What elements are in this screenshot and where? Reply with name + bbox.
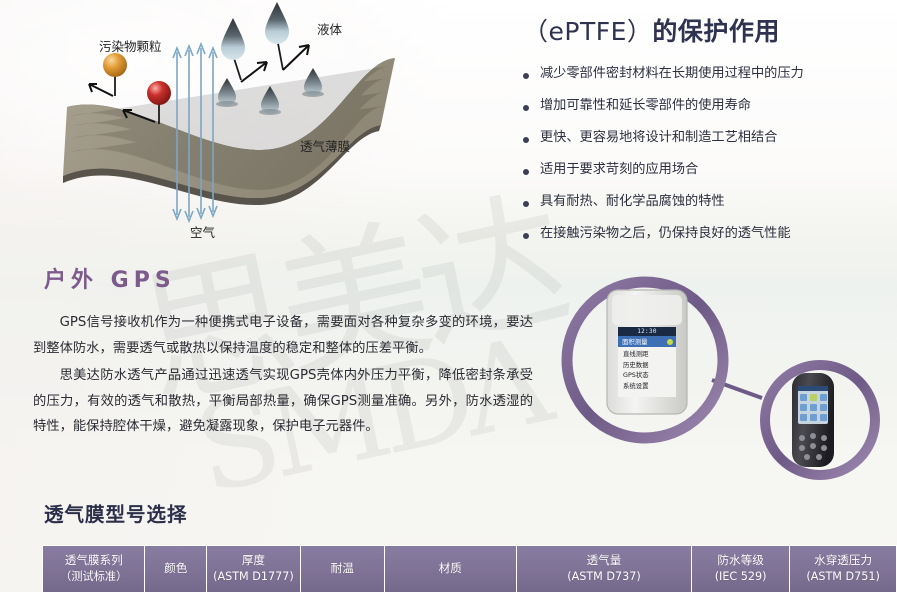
column-header-waterproof-rating: 防水等级 (IEC 529) [692,546,790,592]
screen-menu-item[interactable]: 历史数据 [623,360,676,371]
gps-paragraph: 思美达防水透气产品通过迅速透气实现GPS壳体内外压力平衡，降低密封条承受的压力，… [33,363,533,440]
benefit-item: 更快、更容易地将设计和制造工艺相结合 [523,130,897,147]
benefit-item: 增加可靠性和延长零部件的使用寿命 [523,98,897,115]
column-header-material: 材质 [384,546,516,592]
diagram-label-air: 空气 [190,222,215,241]
column-subtitle: （测试标准） [46,569,141,584]
spec-table-heading: 透气膜型号选择 [44,498,188,527]
benefit-item: 在接触污染物之后，仍保持良好的透气性能 [523,226,897,243]
page-root: 思美达 SMDA [0,0,897,592]
column-subtitle: (IEC 529) [695,569,786,584]
bullet-icon [523,169,529,175]
gps-section-heading: 户外 GPS [44,262,176,294]
benefit-item: 具有耐热、耐化学品腐蚀的特性 [523,194,897,211]
bullet-icon [523,73,529,79]
column-title: 厚度 [242,553,265,567]
benefit-text: 具有耐热、耐化学品腐蚀的特性 [540,194,725,211]
column-header-water-entry-pressure: 水穿透压力 (ASTM D751) [790,546,897,592]
bullet-icon [523,105,529,111]
gps-body-text: GPS信号接收机作为一种便携式电子设备，需要面对各种复杂多变的环境，要达到整体防… [33,310,533,440]
column-header-series: 透气膜系列 （测试标准） [43,546,145,592]
screen-status-badge-icon [667,339,673,345]
screen-status-bar: 12:30 [618,327,676,336]
gps-illustration: 12:30 面积测量 直线测距 历史数据 GPS状态 系统设置 [540,268,897,490]
benefit-text: 更快、更容易地将设计和制造工艺相结合 [540,130,777,147]
spec-table-header-row: 透气膜系列 （测试标准） 颜色 厚度 (ASTM D1777) 耐温 材质 [43,546,897,592]
screen-title-text: 面积测量 [622,337,648,346]
column-header-color: 颜色 [145,546,206,592]
gps-illustration-svg [540,268,897,490]
column-header-temperature: 耐温 [300,546,384,592]
gps-device-screen: 12:30 面积测量 直线测距 历史数据 GPS状态 系统设置 [618,327,676,397]
column-header-thickness: 厚度 (ASTM D1777) [206,546,300,592]
diagram-label-particle: 污染物颗粒 [99,36,162,55]
benefit-text: 在接触污染物之后，仍保持良好的透气性能 [540,226,791,243]
benefit-item: 适用于要求苛刻的应用场合 [523,162,897,179]
diagram-label-liquid: 液体 [317,19,342,38]
diagram-label-membrane: 透气薄膜 [300,136,350,155]
benefit-text: 减少零部件密封材料在长期使用过程中的压力 [540,66,804,83]
column-title: 颜色 [164,561,187,575]
column-title: 水穿透压力 [814,553,872,567]
benefit-text: 适用于要求苛刻的应用场合 [540,162,698,179]
column-title: 材质 [439,561,462,575]
screen-menu-item[interactable]: 系统设置 [623,381,676,392]
column-subtitle: (ASTM D1777) [210,569,297,584]
screen-clock: 12:30 [637,328,657,335]
column-title: 防水等级 [717,553,763,567]
benefits-title: （ePTFE）的保护作用 [523,12,897,48]
bullet-icon [523,233,529,239]
bullet-icon [523,137,529,143]
column-title: 透气膜系列 [65,553,123,567]
membrane-diagram: 污染物颗粒 液体 透气薄膜 空气 [55,0,510,250]
screen-menu-item[interactable]: GPS状态 [623,370,676,381]
column-subtitle: (ASTM D737) [520,569,688,584]
benefit-text: 增加可靠性和延长零部件的使用寿命 [540,98,751,115]
benefits-title-light: （ePTFE） [523,17,652,46]
gps-device-black [792,373,834,467]
column-title: 耐温 [331,561,354,575]
column-subtitle: (ASTM D751) [793,569,893,584]
benefits-panel: （ePTFE）的保护作用 减少零部件密封材料在长期使用过程中的压力 增加可靠性和… [523,12,897,258]
column-header-airflow: 透气量 (ASTM D737) [516,546,691,592]
benefits-title-strong: 的保护作用 [652,17,780,46]
spec-table: 透气膜系列 （测试标准） 颜色 厚度 (ASTM D1777) 耐温 材质 [42,545,897,592]
gps-paragraph: GPS信号接收机作为一种便携式电子设备，需要面对各种复杂多变的环境，要达到整体防… [33,310,533,361]
column-title: 透气量 [587,553,622,567]
benefit-item: 减少零部件密封材料在长期使用过程中的压力 [523,66,897,83]
bullet-icon [523,201,529,207]
screen-menu-item[interactable]: 直线测距 [623,349,676,360]
screen-menu-list: 直线测距 历史数据 GPS状态 系统设置 [618,347,676,391]
screen-title-bar: 面积测量 [618,336,676,347]
